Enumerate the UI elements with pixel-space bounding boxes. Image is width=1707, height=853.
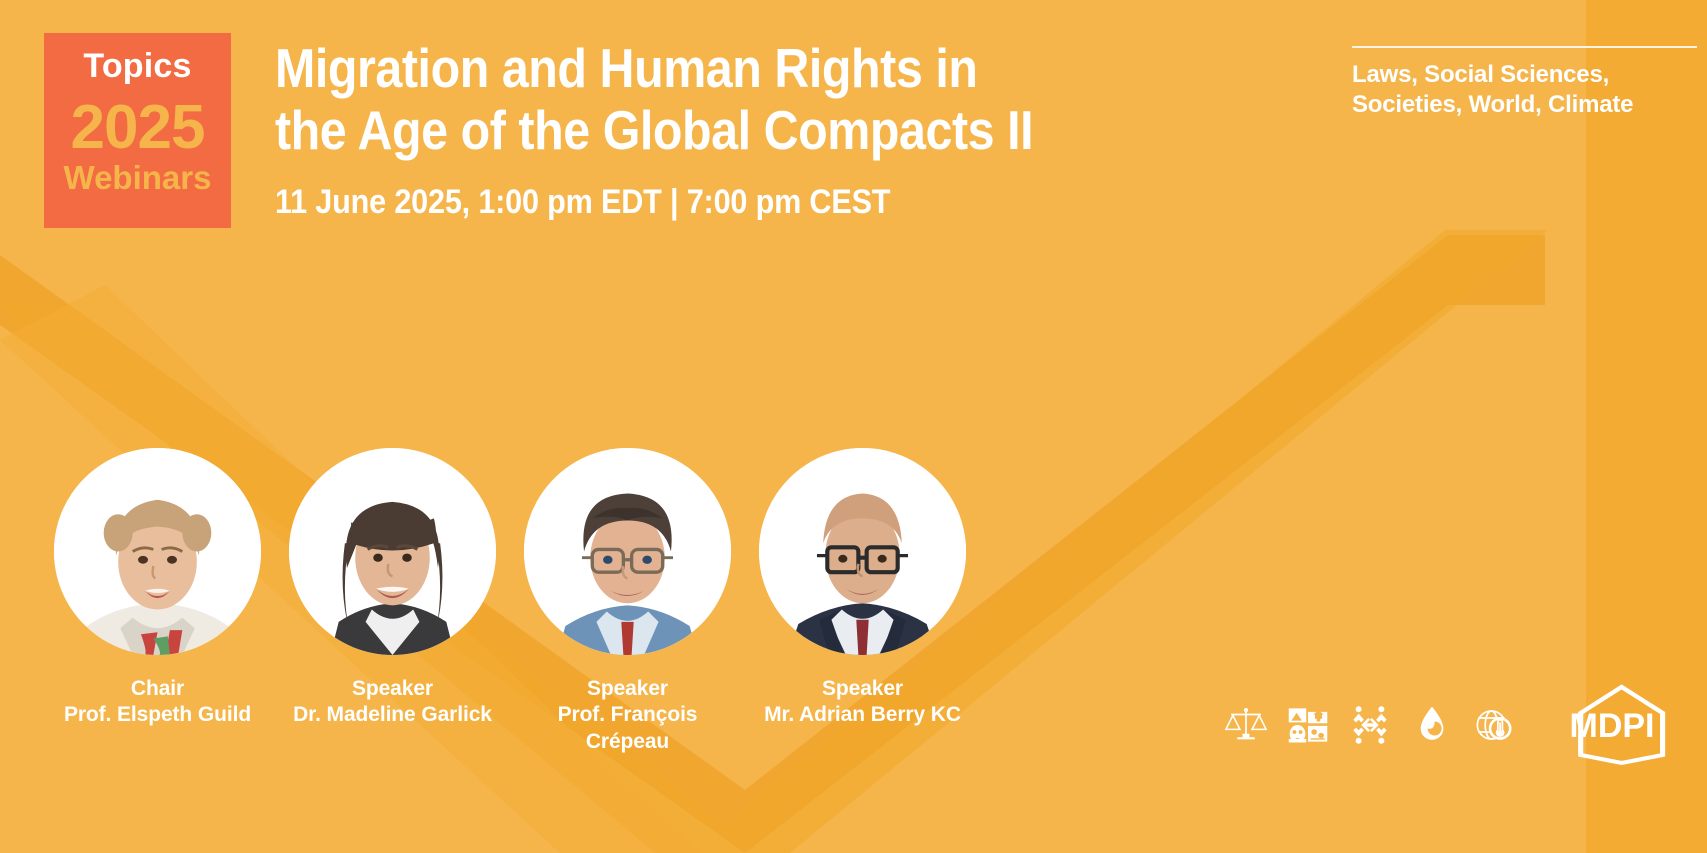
societies-people-icon xyxy=(1349,702,1391,748)
topics-webinars-label: Webinars xyxy=(64,161,212,196)
avatar xyxy=(759,448,966,655)
topics-label: Topics xyxy=(83,49,191,85)
portrait-adrian-berry-icon xyxy=(759,448,966,655)
speaker-name-line-2: Crépeau xyxy=(558,729,698,755)
portrait-madeline-garlick-icon xyxy=(289,448,496,655)
speaker-caption: Speaker Dr. Madeline Garlick xyxy=(293,676,492,729)
avatar xyxy=(54,448,261,655)
speaker-card: Speaker Mr. Adrian Berry KC xyxy=(745,448,980,755)
mdpi-logo-text: MDPI xyxy=(1570,707,1655,745)
mdpi-logo: MDPI xyxy=(1549,683,1675,767)
journals-text: Laws, Social Sciences, Societies, World,… xyxy=(1352,60,1697,120)
headline-line-2: the Age of the Global Compacts II xyxy=(275,100,1093,162)
speakers-row: Chair Prof. Elspeth Guild xyxy=(40,448,1000,755)
journals-line-1: Laws, Social Sciences, xyxy=(1352,60,1697,90)
webinar-banner: Topics 2025 Webinars Migration and Human… xyxy=(0,0,1707,853)
speaker-name: Prof. Elspeth Guild xyxy=(64,702,251,728)
event-datetime: 11 June 2025, 1:00 pm EDT | 7:00 pm CEST xyxy=(275,183,1112,222)
journals-divider xyxy=(1352,46,1697,48)
headline-line-1: Migration and Human Rights in xyxy=(275,38,1093,100)
speaker-caption: Speaker Prof. François Crépeau xyxy=(558,676,698,755)
speaker-role: Speaker xyxy=(764,676,961,702)
speaker-role: Speaker xyxy=(558,676,698,702)
portrait-elspeth-guild-icon xyxy=(54,448,261,655)
speaker-role: Chair xyxy=(64,676,251,702)
speaker-card: Chair Prof. Elspeth Guild xyxy=(40,448,275,755)
avatar xyxy=(524,448,731,655)
speaker-caption: Chair Prof. Elspeth Guild xyxy=(64,676,251,729)
climate-globe-thermometer-icon xyxy=(1473,702,1515,748)
world-droplet-icon xyxy=(1411,702,1453,748)
speaker-card: Speaker Prof. François Crépeau xyxy=(510,448,745,755)
journals-list: Laws, Social Sciences, Societies, World,… xyxy=(1352,46,1697,120)
speaker-role: Speaker xyxy=(293,676,492,702)
topics-year: 2025 xyxy=(71,97,205,159)
speaker-caption: Speaker Mr. Adrian Berry KC xyxy=(764,676,961,729)
speaker-name: Dr. Madeline Garlick xyxy=(293,702,492,728)
headline-block: Migration and Human Rights in the Age of… xyxy=(275,38,1205,222)
avatar xyxy=(289,448,496,655)
social-sciences-collage-icon xyxy=(1287,702,1329,748)
journals-line-2: Societies, World, Climate xyxy=(1352,90,1697,120)
speaker-name: Prof. François xyxy=(558,702,698,728)
speaker-card: Speaker Dr. Madeline Garlick xyxy=(275,448,510,755)
brand-row: MDPI xyxy=(1225,683,1675,767)
topics-badge: Topics 2025 Webinars xyxy=(44,33,231,228)
page-title: Migration and Human Rights in the Age of… xyxy=(275,38,1093,161)
speaker-name: Mr. Adrian Berry KC xyxy=(764,702,961,728)
portrait-francois-crepeau-icon xyxy=(524,448,731,655)
scales-of-justice-icon xyxy=(1225,702,1267,748)
